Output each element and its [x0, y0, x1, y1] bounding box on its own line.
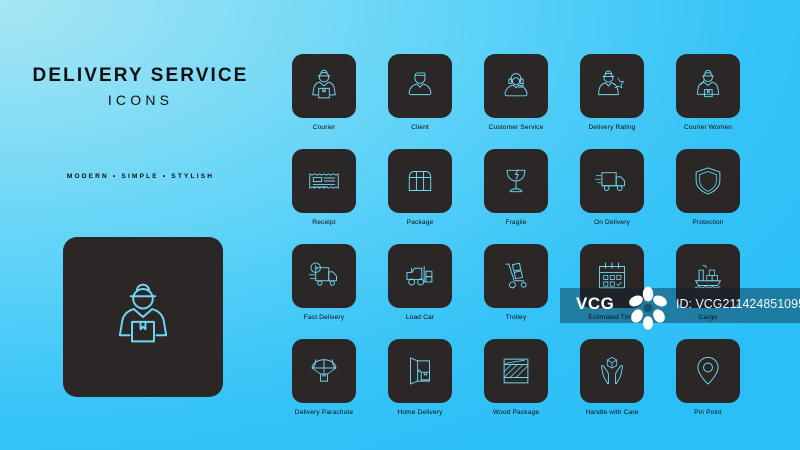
icon-label: Courier — [292, 125, 356, 132]
forklift-icon — [401, 257, 439, 295]
grid-cell-courier[interactable]: Courier — [292, 54, 356, 132]
fast-delivery-icon — [305, 257, 343, 295]
shield-icon — [689, 162, 727, 200]
client-icon — [401, 67, 439, 105]
grid-cell-home-delivery[interactable]: Home Delivery — [388, 339, 452, 417]
icon-label: On Delivery — [580, 220, 644, 227]
icon-label: Trolley — [484, 315, 548, 322]
icon-label: Customer Service — [484, 125, 548, 132]
receipt-icon — [305, 162, 343, 200]
feature-icon-tile — [63, 237, 223, 397]
customer-service-icon — [497, 67, 535, 105]
icon-label: Courier Women — [676, 125, 740, 132]
page-title: DELIVERY SERVICE — [18, 66, 263, 86]
icon-label: Receipt — [292, 220, 356, 227]
fragile-icon — [497, 162, 535, 200]
grid-cell-receipt[interactable]: Receipt — [292, 149, 356, 227]
icon-tile[interactable] — [388, 244, 452, 308]
door-package-icon — [401, 352, 439, 390]
icon-label: Wood Package — [484, 410, 548, 417]
grid-cell-delivery-parachute[interactable]: Delivery Parachute — [292, 339, 356, 417]
hands-box-icon — [593, 352, 631, 390]
icon-label: Client — [388, 125, 452, 132]
icon-tile[interactable] — [484, 54, 548, 118]
grid-cell-fast-delivery[interactable]: Fast Delivery — [292, 244, 356, 322]
delivery-rating-icon — [593, 67, 631, 105]
icon-label: Delivery Rating — [580, 125, 644, 132]
grid-cell-delivery-rating[interactable]: Delivery Rating — [580, 54, 644, 132]
poster-canvas: DELIVERY SERVICE ICONS MODERN • SIMPLE •… — [0, 0, 800, 450]
map-pin-icon — [689, 352, 727, 390]
icon-tile[interactable] — [292, 149, 356, 213]
grid-cell-customer-service[interactable]: Customer Service — [484, 54, 548, 132]
grid-cell-package[interactable]: Package — [388, 149, 452, 227]
delivery-truck-icon — [593, 162, 631, 200]
grid-cell-pin-point[interactable]: Pin Point — [676, 339, 740, 417]
title-block: DELIVERY SERVICE ICONS — [18, 66, 263, 108]
grid-cell-protection[interactable]: Protection — [676, 149, 740, 227]
icon-grid: Courier Client — [292, 54, 788, 434]
icon-tile[interactable] — [676, 339, 740, 403]
icon-tile[interactable] — [580, 149, 644, 213]
icon-tile[interactable] — [676, 54, 740, 118]
left-panel: DELIVERY SERVICE ICONS MODERN • SIMPLE •… — [0, 0, 280, 450]
icon-tile[interactable] — [292, 339, 356, 403]
wood-crate-icon — [497, 352, 535, 390]
grid-cell-handle-with-care[interactable]: Handle with Care — [580, 339, 644, 417]
courier-women-icon — [689, 67, 727, 105]
grid-cell-fragile[interactable]: Fragile — [484, 149, 548, 227]
grid-cell-trolley[interactable]: Trolley — [484, 244, 548, 322]
splash-icon — [626, 286, 670, 330]
icon-label: Protection — [676, 220, 740, 227]
icon-tile[interactable] — [676, 149, 740, 213]
courier-icon — [305, 67, 343, 105]
page-subtitle: ICONS — [18, 92, 263, 108]
icon-tile[interactable] — [484, 149, 548, 213]
icon-tile[interactable] — [580, 54, 644, 118]
grid-cell-courier-women[interactable]: Courier Women — [676, 54, 740, 132]
grid-cell-load-car[interactable]: Load Car — [388, 244, 452, 322]
package-icon — [401, 162, 439, 200]
icon-tile[interactable] — [484, 244, 548, 308]
icon-tile[interactable] — [388, 339, 452, 403]
icon-label: Home Delivery — [388, 410, 452, 417]
icon-tile[interactable] — [292, 244, 356, 308]
icon-tile[interactable] — [388, 149, 452, 213]
icon-label: Pin Point — [676, 410, 740, 417]
icon-label: Fast Delivery — [292, 315, 356, 322]
courier-icon — [104, 278, 182, 356]
hand-truck-icon — [497, 257, 535, 295]
vcg-logo: VCG — [576, 295, 614, 312]
icon-tile[interactable] — [580, 339, 644, 403]
tagline: MODERN • SIMPLE • STYLISH — [18, 173, 263, 180]
icon-label: Package — [388, 220, 452, 227]
icon-tile[interactable] — [484, 339, 548, 403]
parachute-icon — [305, 352, 343, 390]
grid-cell-wood-package[interactable]: Wood Package — [484, 339, 548, 417]
icon-tile[interactable] — [292, 54, 356, 118]
icon-label: Fragile — [484, 220, 548, 227]
icon-label: Load Car — [388, 315, 452, 322]
icon-label: Delivery Parachute — [292, 410, 356, 417]
watermark-id: ID: VCG211424851095 — [676, 298, 800, 311]
icon-label: Handle with Care — [580, 410, 644, 417]
grid-cell-on-delivery[interactable]: On Delivery — [580, 149, 644, 227]
grid-cell-client[interactable]: Client — [388, 54, 452, 132]
icon-tile[interactable] — [388, 54, 452, 118]
